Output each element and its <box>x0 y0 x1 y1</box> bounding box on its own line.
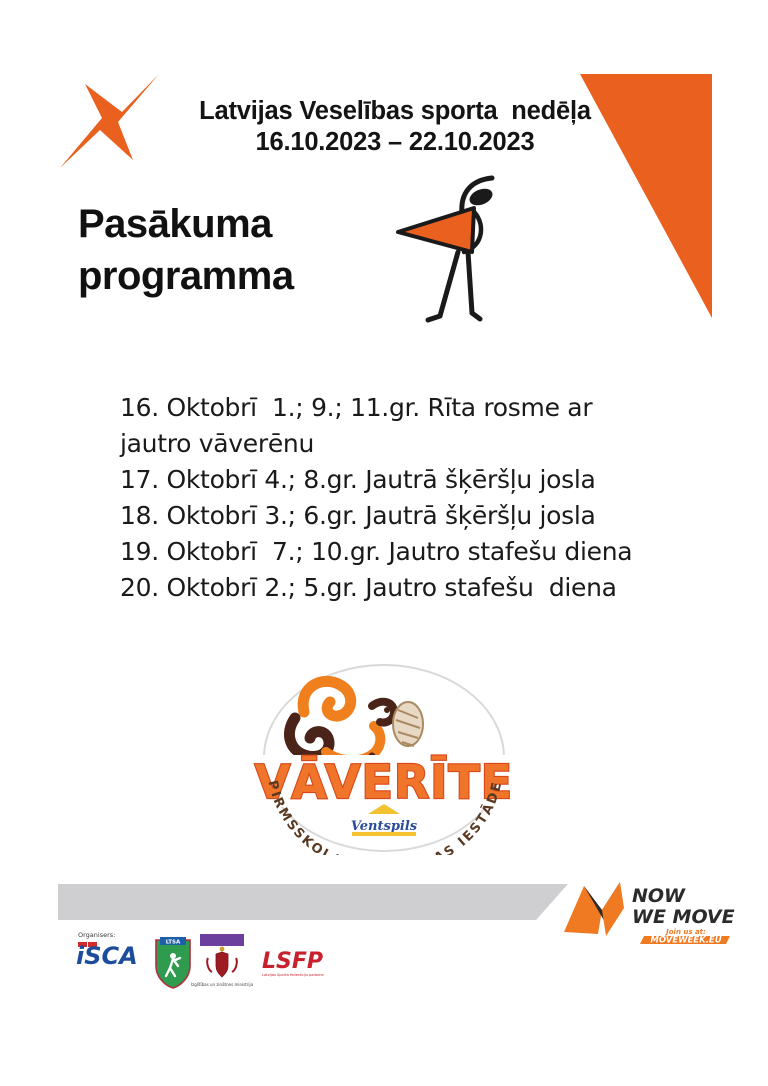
svg-text:LTSA: LTSA <box>166 940 181 946</box>
title-line-1: Latvijas Veselības sporta nedēļa <box>22 96 768 126</box>
programme-line: 16. Oktobrī 1.; 9.; 11.gr. Rīta rosme ar <box>120 390 680 426</box>
heading-line-2: programma <box>78 250 408 302</box>
isca-logo: iSCA <box>76 942 138 970</box>
svg-text:Latvijas Sporta federāciju pad: Latvijas Sporta federāciju padome <box>262 973 324 977</box>
now-we-move-line-1: NOW <box>632 885 686 907</box>
programme-list: 16. Oktobrī 1.; 9.; 11.gr. Rīta rosme ar… <box>120 390 680 606</box>
poster-title: Latvijas Veselības sporta nedēļa 16.10.2… <box>0 96 768 158</box>
programme-line: 17. Oktobrī 4.; 8.gr. Jautrā šķēršļu jos… <box>120 462 680 498</box>
svg-text:Izglītības un zinātnes ministr: Izglītības un zinātnes ministrija <box>191 982 254 987</box>
poster-page: Latvijas Veselības sporta nedēļa 16.10.2… <box>0 0 768 1086</box>
programme-line: 18. Oktobrī 3.; 6.gr. Jautrā šķēršļu jos… <box>120 498 680 534</box>
svg-text:Ventspils: Ventspils <box>351 819 418 834</box>
organisers-label: Organisers: <box>78 931 115 939</box>
vaverite-wordmark: VĀVERĪTE <box>255 755 513 809</box>
page-heading: Pasākuma programma <box>78 198 408 302</box>
svg-text:LSFP: LSFP <box>262 949 323 974</box>
svg-text:iSCA: iSCA <box>76 942 138 970</box>
programme-line: 20. Oktobrī 2.; 5.gr. Jautro stafešu die… <box>120 570 680 606</box>
stick-figure-icon <box>388 170 518 325</box>
programme-line: 19. Oktobrī 7.; 10.gr. Jautro stafešu di… <box>120 534 680 570</box>
programme-line: jautro vāverēnu <box>120 426 680 462</box>
latvia-ministry-logo: Izglītības un zinātnes ministrija <box>191 934 254 987</box>
vaverite-kindergarten-logo: VĀVERĪTE Ventspils PIRMSSKOLAS IZGLĪTĪBA… <box>232 660 537 855</box>
heading-line-1: Pasākuma <box>78 198 408 250</box>
footer-grey-bar <box>58 884 568 920</box>
organiser-logo-strip: Organisers: iSCA LTSA Izglī <box>76 928 376 994</box>
now-we-move-line-2: WE MOVE <box>632 906 735 928</box>
ltsa-shield-logo: LTSA <box>156 937 190 988</box>
moveweek-url: MOVEWEEK.EU <box>650 936 721 945</box>
title-line-2: 16.10.2023 – 22.10.2023 <box>22 126 768 158</box>
now-we-move-logo: NOW WE MOVE Join us at: MOVEWEEK.EU <box>562 878 748 944</box>
lsfp-logo: LSFP Latvijas Sporta federāciju padome <box>262 949 324 977</box>
